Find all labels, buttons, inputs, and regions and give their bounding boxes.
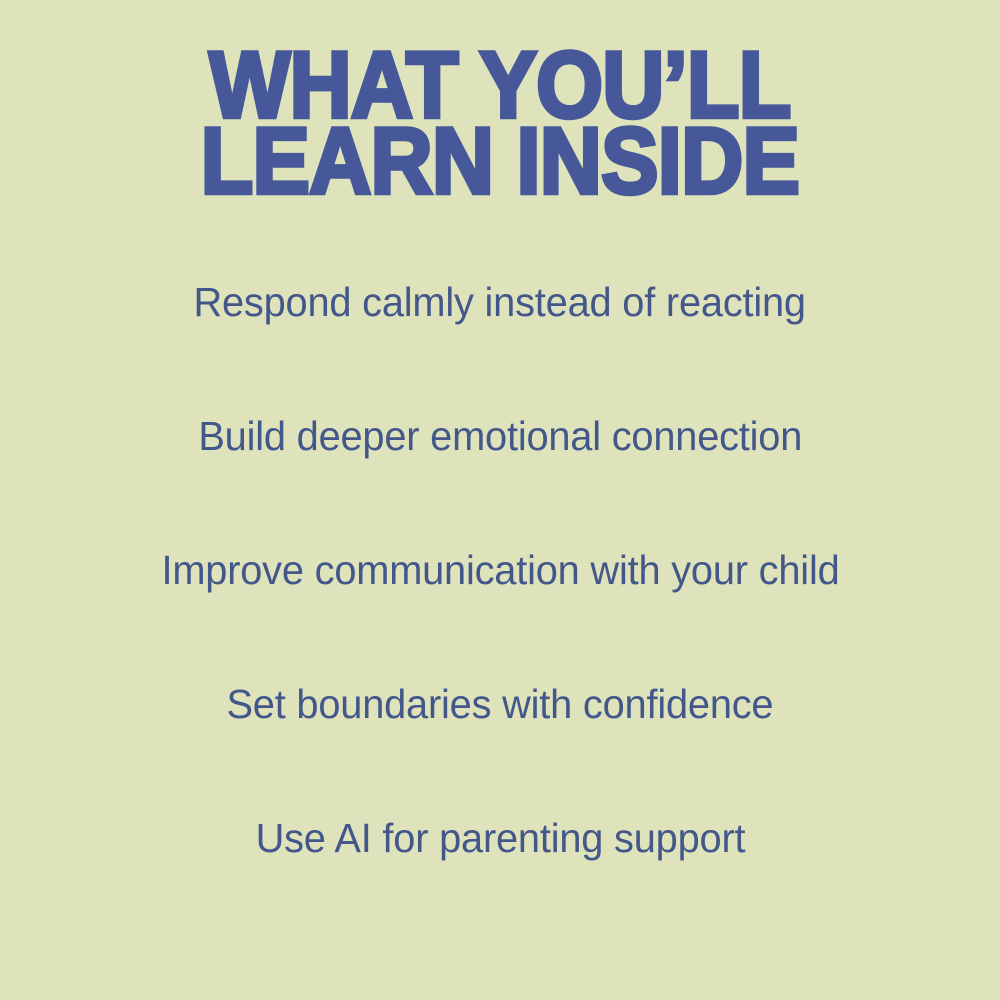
page-title: WHAT YOU’LL LEARN INSIDE [0, 44, 1000, 192]
benefit-text: Improve communication with your child [161, 550, 839, 591]
benefit-text: Set boundaries with confidence [227, 684, 774, 725]
benefit-text: Respond calmly instead of reacting [194, 282, 806, 323]
benefit-text: Use AI for parenting support [255, 818, 745, 859]
list-item: Build deeper emotional connection [0, 416, 1000, 550]
poster-canvas: WHAT YOU’LL LEARN INSIDE Respond calmly … [0, 0, 1000, 1000]
benefit-text: Build deeper emotional connection [198, 416, 802, 457]
list-item: Use AI for parenting support [0, 818, 1000, 952]
list-item: Improve communication with your child [0, 550, 1000, 684]
page-title-line-2: LEARN INSIDE [0, 120, 1000, 201]
benefits-list: Respond calmly instead of reacting Build… [0, 282, 1000, 952]
list-item: Set boundaries with confidence [0, 684, 1000, 818]
list-item: Respond calmly instead of reacting [0, 282, 1000, 416]
